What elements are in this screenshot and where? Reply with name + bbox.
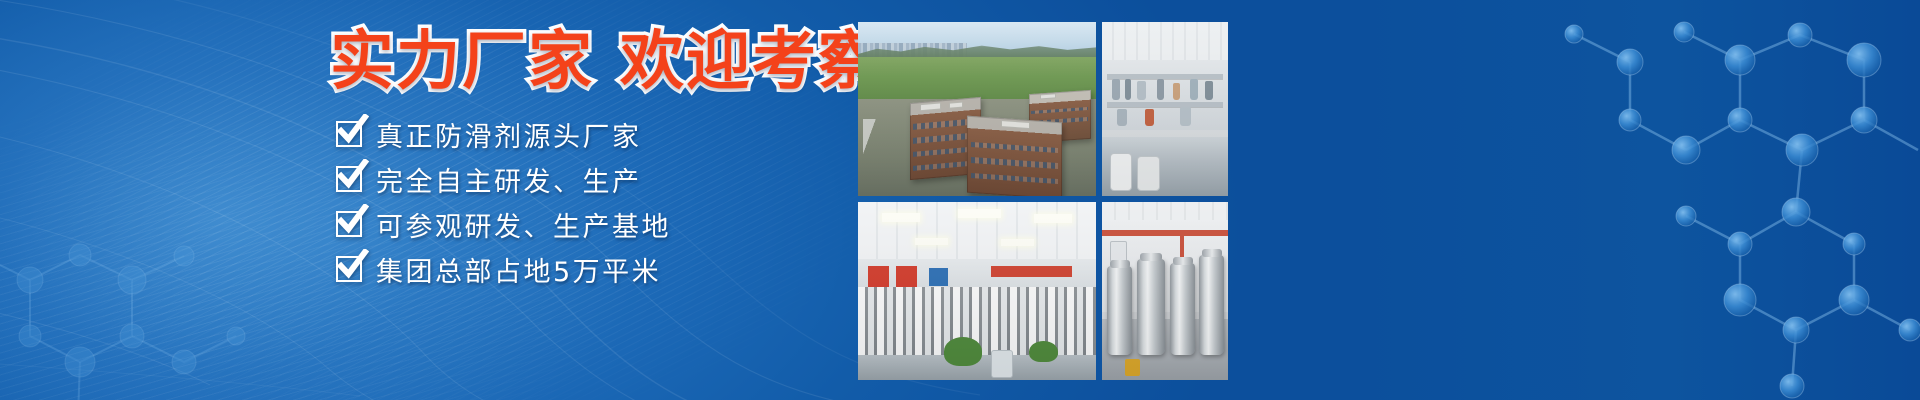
reactor-tank [1199,255,1224,355]
checkbox-checked-icon [336,256,362,282]
wall-poster [929,268,948,286]
molecule-structure-right [1440,0,1920,400]
lab-shelf [1107,102,1223,107]
list-item-label: 集团总部占地5万平米 [376,250,661,289]
checkbox-checked-icon [336,211,362,237]
wall-poster [896,266,917,287]
water-cooler [991,350,1012,378]
office-plant [944,337,982,365]
checkbox-checked-icon [336,166,362,192]
floor-cart [1125,359,1140,377]
ceiling-light [1001,239,1034,246]
list-item-label: 可参观研发、生产基地 [376,205,671,244]
aerial-campus-photo [858,22,1096,196]
page-title: 实力厂家欢迎考察 [330,30,884,94]
staff-office-photo [858,202,1096,380]
lab-glassware [1125,79,1131,100]
lab-shelf [1107,74,1223,79]
production-equipment-photo [1102,202,1228,380]
lab-glassware [1180,107,1191,126]
list-item: 可参观研发、生产基地 [336,206,671,242]
lab-drum [1137,156,1160,191]
list-item: 完全自主研发、生产 [336,161,671,197]
promo-banner: 实力厂家欢迎考察 真正防滑剂源头厂家 完全自主研发、生产 [0,0,1920,400]
overhead-pipe [1102,230,1228,235]
photo-gallery [858,22,1228,380]
banner-content: 实力厂家欢迎考察 真正防滑剂源头厂家 完全自主研发、生产 [0,0,860,400]
ceiling-light [915,238,948,245]
lab-glassware [1157,79,1163,100]
campus-building [967,116,1062,196]
lab-glassware [1117,109,1127,126]
list-item-label: 真正防滑剂源头厂家 [376,115,642,154]
list-item: 真正防滑剂源头厂家 [336,116,671,152]
laboratory-photo [1102,22,1228,196]
reactor-tank [1107,266,1132,355]
ceiling-light [1034,214,1072,223]
reactor-tank [1170,263,1195,356]
wall-banner [991,266,1072,277]
lab-drum [1110,153,1133,191]
lab-glassware [1173,83,1181,100]
ceiling-light [882,213,920,222]
lab-glassware [1112,79,1120,100]
checkbox-checked-icon [336,121,362,147]
headline-part-2: 欢迎考察 [620,25,884,99]
feature-list: 真正防滑剂源头厂家 完全自主研发、生产 可参观研发、生产基地 [336,116,671,287]
lab-glassware [1205,81,1213,100]
ceiling-light [958,209,1001,218]
list-item: 集团总部占地5万平米 [336,251,671,287]
lab-glassware [1145,109,1154,126]
lab-glassware [1190,79,1198,100]
list-item-label: 完全自主研发、生产 [376,160,642,199]
office-plant [1029,341,1058,362]
reactor-tank [1137,259,1165,355]
wall-poster [868,266,889,287]
headline-part-1: 实力厂家 [330,25,594,99]
lab-glassware [1137,81,1146,100]
